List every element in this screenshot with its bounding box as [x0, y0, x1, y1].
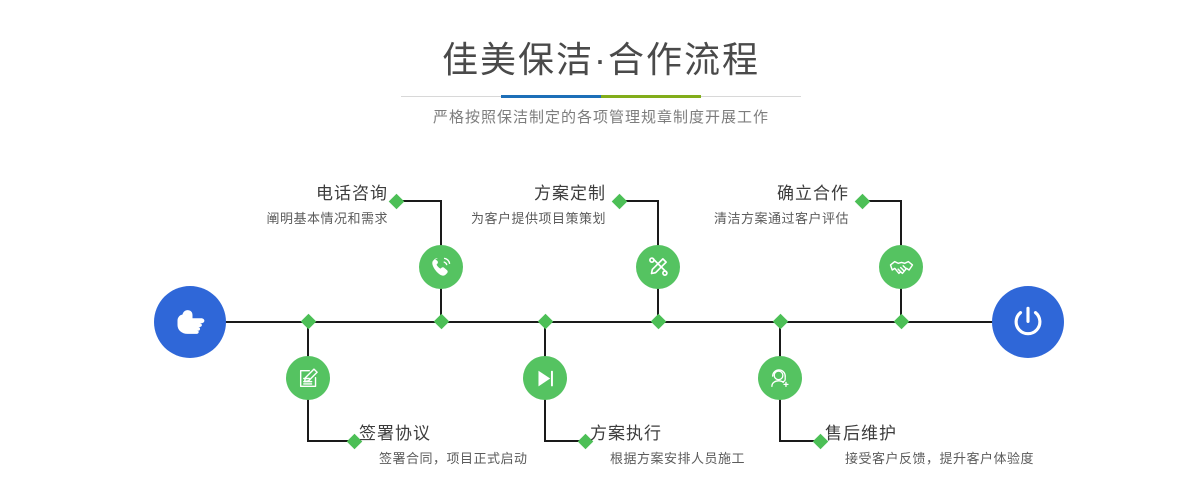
step-title: 签署协议 — [359, 424, 619, 444]
play-skip-icon — [533, 366, 558, 391]
process-timeline: 电话咨询 阐明基本情况和需求 方案定制 为客户提供项目策策划 — [0, 150, 1202, 502]
step-title: 售后维护 — [825, 424, 1125, 444]
step-icon-phone-consultation[interactable] — [419, 245, 463, 289]
timeline-start-endpoint[interactable] — [154, 286, 226, 358]
step-desc: 接受客户反馈，提升客户体验度 — [825, 450, 1125, 468]
step-desc: 清洁方案通过客户评估 — [620, 210, 849, 228]
step-icon-sign-agreement[interactable] — [286, 356, 330, 400]
axis-diamond-top-2 — [651, 314, 667, 330]
step-title: 方案执行 — [590, 424, 852, 444]
step-icon-plan-customization[interactable] — [636, 245, 680, 289]
power-icon — [1008, 302, 1048, 342]
step-label-after-sales: 售后维护 接受客户反馈，提升客户体验度 — [825, 424, 1125, 468]
step-label-sign-agreement: 签署协议 签署合同，项目正式启动 — [359, 424, 619, 468]
divider-blue-segment — [501, 95, 601, 98]
pencil-design-icon — [645, 254, 671, 280]
step-label-plan-customization: 方案定制 为客户提供项目策策划 — [380, 184, 606, 228]
step-icon-plan-execution[interactable] — [523, 356, 567, 400]
timeline-end-endpoint[interactable] — [992, 286, 1064, 358]
phone-call-icon — [428, 254, 454, 280]
axis-diamond-bottom-2 — [538, 314, 554, 330]
document-edit-icon — [296, 366, 321, 391]
axis-diamond-top-3 — [894, 314, 910, 330]
step-label-plan-execution: 方案执行 根据方案安排人员施工 — [590, 424, 852, 468]
support-headset-icon — [768, 366, 793, 391]
step-title: 确立合作 — [620, 184, 849, 204]
step-icon-establish-cooperation[interactable] — [879, 245, 923, 289]
step-label-phone-consultation: 电话咨询 阐明基本情况和需求 — [150, 184, 388, 228]
step-title: 电话咨询 — [150, 184, 388, 204]
divider-right-rule — [701, 96, 801, 97]
diamond-top-3 — [855, 194, 871, 210]
step-icon-after-sales[interactable] — [758, 356, 802, 400]
page-header: 佳美保洁·合作流程 严格按照保洁制定的各项管理规章制度开展工作 — [0, 0, 1202, 150]
axis-diamond-bottom-1 — [301, 314, 317, 330]
page-subtitle: 严格按照保洁制定的各项管理规章制度开展工作 — [0, 106, 1202, 127]
step-desc: 阐明基本情况和需求 — [150, 210, 388, 228]
page-title: 佳美保洁·合作流程 — [0, 38, 1202, 82]
step-desc: 根据方案安排人员施工 — [590, 450, 852, 468]
step-title: 方案定制 — [380, 184, 606, 204]
divider-green-segment — [601, 95, 701, 98]
title-divider — [401, 95, 801, 98]
divider-left-rule — [401, 96, 501, 97]
handshake-icon — [888, 254, 915, 281]
pointing-hand-icon — [170, 302, 210, 342]
step-desc: 签署合同，项目正式启动 — [359, 450, 619, 468]
axis-diamond-bottom-3 — [773, 314, 789, 330]
step-desc: 为客户提供项目策策划 — [380, 210, 606, 228]
step-label-establish-cooperation: 确立合作 清洁方案通过客户评估 — [620, 184, 849, 228]
axis-diamond-top-1 — [434, 314, 450, 330]
